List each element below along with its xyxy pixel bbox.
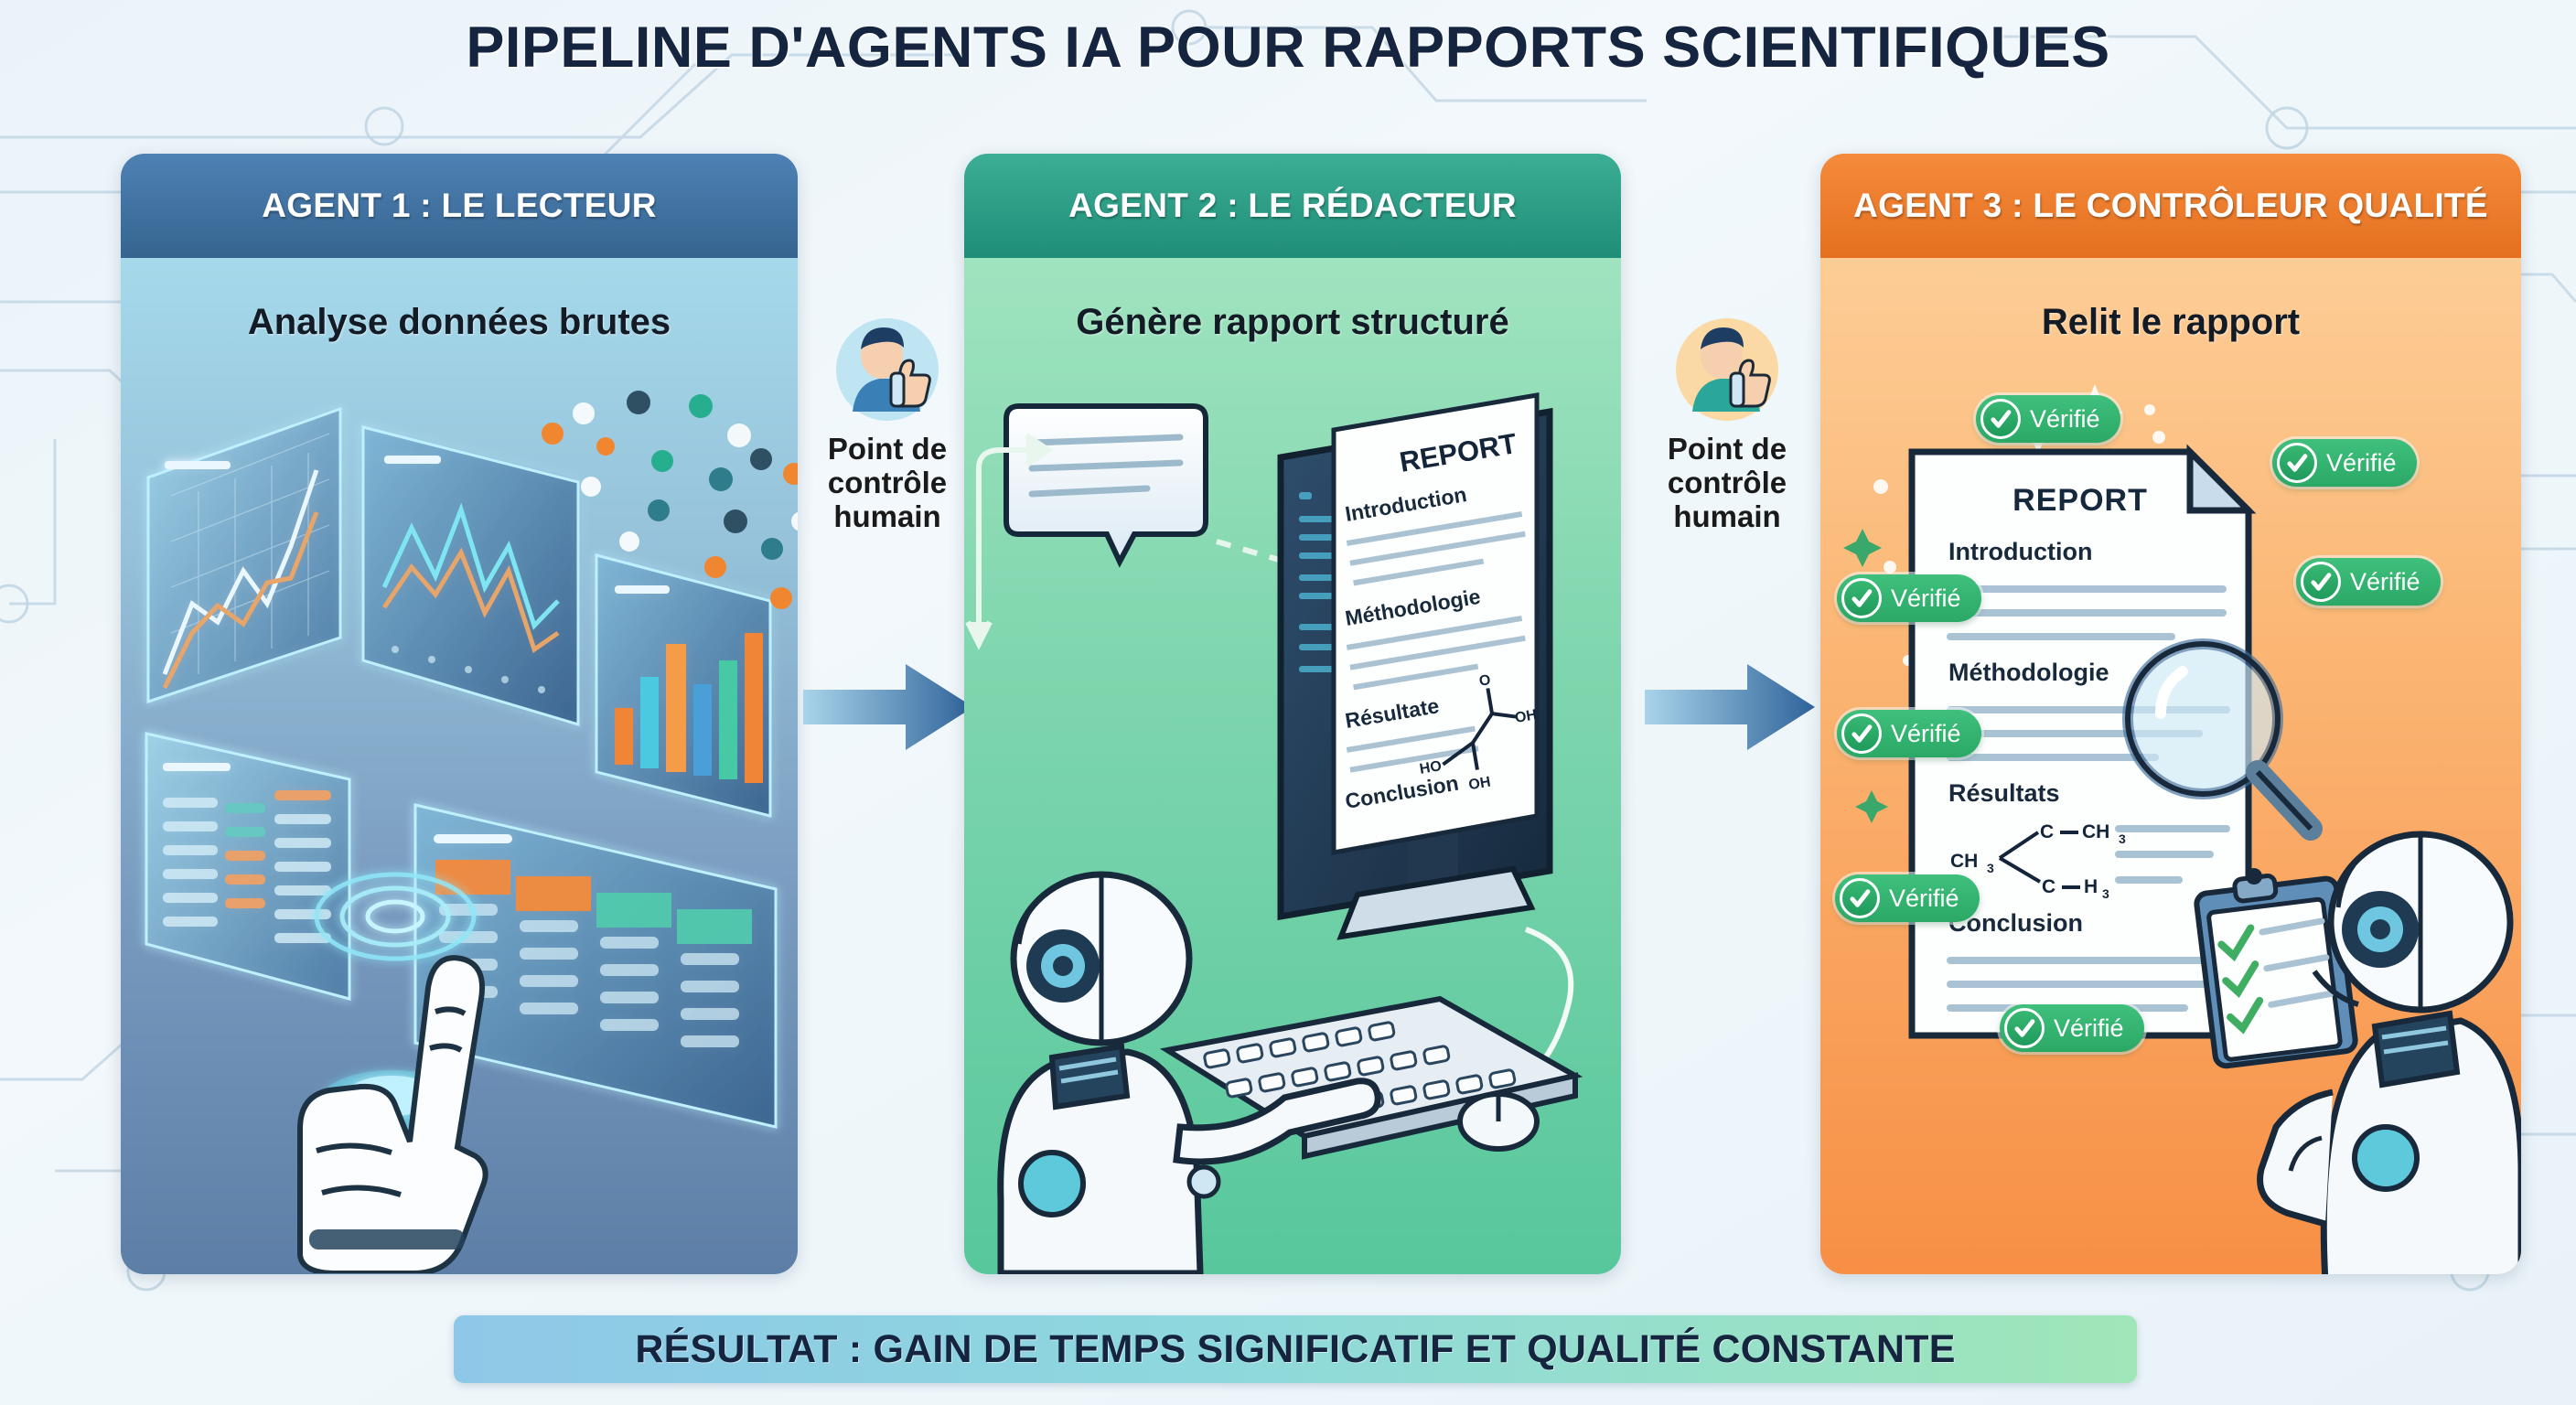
- report-section-methodologie: Méthodologie: [1948, 659, 2109, 686]
- check-icon: [1841, 713, 1882, 754]
- robot-hand: [300, 958, 486, 1273]
- result-banner: RÉSULTAT : GAIN DE TEMPS SIGNIFICATIF ET…: [454, 1315, 2137, 1383]
- flow-arrow-2: [1645, 660, 1815, 754]
- agent-1-header: AGENT 1 : LE LECTEUR: [121, 154, 798, 258]
- agent-3-subtitle: Relit le rapport: [1820, 302, 2521, 343]
- agent-1-illustration: [121, 359, 798, 1273]
- verified-badge: Vérifié: [1837, 574, 1981, 622]
- svg-text:CH: CH: [2082, 821, 2109, 842]
- report-section-resultats: Résultats: [1948, 779, 2060, 807]
- agent-2-header: AGENT 2 : LE RÉDACTEUR: [964, 154, 1621, 258]
- agent-2-panel: AGENT 2 : LE RÉDACTEUR Génère rapport st…: [964, 154, 1621, 1274]
- svg-text:CH: CH: [1950, 851, 1978, 872]
- agent-3-illustration: REPORT Introduction Méthodologie Résulta…: [1820, 349, 2521, 1274]
- agent-1-subtitle: Analyse données brutes: [121, 302, 798, 343]
- data-table-screen: [146, 734, 349, 999]
- speech-bubble: [1006, 406, 1206, 562]
- agent-1-body: Analyse données brutes: [121, 258, 798, 1274]
- report-page: REPORT Introduction Méthodologie Résulta…: [1334, 395, 1548, 853]
- page-title: PIPELINE D'AGENTS IA POUR RAPPORTS SCIEN…: [0, 15, 2576, 80]
- person-thumbs-up-icon: [834, 316, 940, 423]
- line-chart-screen: [148, 409, 340, 702]
- agent-3-header: AGENT 3 : LE CONTRÔLEUR QUALITÉ: [1820, 154, 2521, 258]
- report-section-introduction: Introduction: [1948, 538, 2092, 565]
- verified-badge: Vérifié: [1837, 710, 1981, 757]
- check-icon: [1840, 878, 1880, 918]
- mouse: [1460, 1094, 1537, 1149]
- svg-text:C: C: [2042, 876, 2055, 897]
- human-checkpoint-1: Point de contrôle humain: [798, 316, 977, 534]
- second-line-chart-screen: [363, 427, 578, 724]
- check-icon: [1980, 399, 2021, 439]
- svg-text:3: 3: [2119, 831, 2126, 846]
- agent-2-illustration: REPORT Introduction Méthodologie Résulta…: [964, 359, 1621, 1274]
- check-icon: [2277, 443, 2317, 483]
- check-icon: [1841, 578, 1882, 618]
- svg-text:3: 3: [2102, 886, 2109, 901]
- svg-text:H: H: [2084, 876, 2098, 897]
- bar-chart-screen: [596, 555, 770, 816]
- verified-badge: Vérifié: [2272, 439, 2417, 487]
- verified-badge: Vérifié: [1976, 395, 2120, 443]
- svg-text:C: C: [2040, 821, 2054, 842]
- human-checkpoint-1-label: Point de contrôle humain: [798, 433, 977, 534]
- verified-badge: Vérifié: [2296, 558, 2441, 606]
- person-thumbs-up-icon: [1674, 316, 1780, 423]
- agent-3-panel: AGENT 3 : LE CONTRÔLEUR QUALITÉ Relit le…: [1820, 154, 2521, 1274]
- check-icon: [2004, 1008, 2045, 1048]
- agent-3-body: Relit le rapport REPORT Intr: [1820, 258, 2521, 1274]
- svg-text:3: 3: [1987, 861, 1994, 875]
- report-title: REPORT: [2012, 483, 2148, 518]
- agent-2-subtitle: Génère rapport structuré: [964, 302, 1621, 343]
- result-banner-text: RÉSULTAT : GAIN DE TEMPS SIGNIFICATIF ET…: [635, 1327, 1955, 1372]
- agent-1-panel: AGENT 1 : LE LECTEUR Analyse données bru…: [121, 154, 798, 1274]
- verified-badge: Vérifié: [1835, 874, 1980, 922]
- agent-2-body: Génère rapport structuré: [964, 258, 1621, 1274]
- verified-badge: Vérifié: [2000, 1004, 2144, 1052]
- human-checkpoint-2: Point de contrôle humain: [1637, 316, 1817, 534]
- human-checkpoint-2-label: Point de contrôle humain: [1637, 433, 1817, 534]
- flow-arrow-1: [803, 660, 973, 754]
- check-icon: [2301, 562, 2341, 602]
